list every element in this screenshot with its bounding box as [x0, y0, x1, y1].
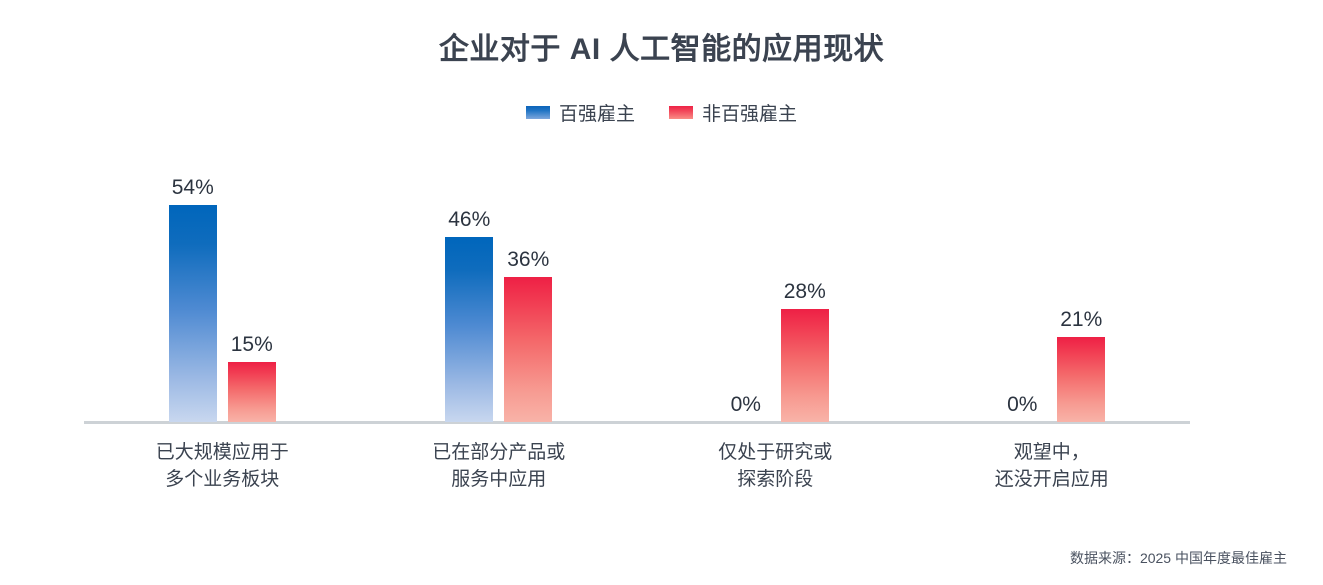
bar-group-0: 54% 15% [84, 150, 361, 422]
bar-groups: 54% 15% 46% 36% [84, 150, 1190, 422]
source-note: 数据来源：2025 中国年度最佳雇主 [1070, 548, 1287, 568]
bar-slot-red-0[interactable]: 15% [228, 150, 276, 422]
bar-red-1[interactable] [504, 277, 552, 422]
bar-pair-1: 46% 36% [361, 150, 638, 422]
bar-slot-blue-0[interactable]: 54% [169, 150, 217, 422]
bar-red-0[interactable] [228, 362, 276, 422]
bar-slot-blue-1[interactable]: 46% [445, 150, 493, 422]
x-axis-label-0: 已大规模应用于 多个业务板块 [84, 440, 361, 494]
bar-pair-3: 0% 21% [914, 150, 1191, 422]
bar-value-blue-0: 54% [172, 177, 214, 198]
x-axis-label-2-line2: 探索阶段 [637, 467, 914, 494]
bar-red-2[interactable] [781, 309, 829, 422]
x-axis-label-2-line1: 仅处于研究或 [637, 440, 914, 467]
bar-red-3[interactable] [1057, 337, 1105, 422]
bar-pair-2: 0% 28% [637, 150, 914, 422]
bar-slot-blue-2[interactable]: 0% [722, 150, 770, 422]
x-axis-label-1-line1: 已在部分产品或 [361, 440, 638, 467]
bar-slot-red-2[interactable]: 28% [781, 150, 829, 422]
bar-value-blue-1: 46% [448, 209, 490, 230]
x-axis-label-1-line2: 服务中应用 [361, 467, 638, 494]
plot-area: 54% 15% 46% 36% [0, 0, 1323, 585]
bar-group-3: 0% 21% [914, 150, 1191, 422]
bar-group-2: 0% 28% [637, 150, 914, 422]
bar-value-red-0: 15% [231, 334, 273, 355]
bar-value-red-1: 36% [507, 249, 549, 270]
bar-value-red-2: 28% [784, 281, 826, 302]
x-axis-labels: 已大规模应用于 多个业务板块 已在部分产品或 服务中应用 仅处于研究或 探索阶段… [84, 440, 1190, 494]
x-axis-label-2: 仅处于研究或 探索阶段 [637, 440, 914, 494]
bar-slot-blue-3[interactable]: 0% [998, 150, 1046, 422]
bar-blue-0[interactable] [169, 205, 217, 422]
x-axis-label-3: 观望中， 还没开启应用 [914, 440, 1191, 494]
bar-slot-red-3[interactable]: 21% [1057, 150, 1105, 422]
x-axis-label-0-line1: 已大规模应用于 [84, 440, 361, 467]
bar-slot-red-1[interactable]: 36% [504, 150, 552, 422]
bar-value-blue-2: 0% [731, 394, 761, 415]
x-axis-label-1: 已在部分产品或 服务中应用 [361, 440, 638, 494]
bar-value-blue-3: 0% [1007, 394, 1037, 415]
bar-value-red-3: 21% [1060, 309, 1102, 330]
bar-blue-1[interactable] [445, 237, 493, 422]
bar-group-1: 46% 36% [361, 150, 638, 422]
bar-pair-0: 54% 15% [84, 150, 361, 422]
x-axis-label-3-line1: 观望中， [914, 440, 1191, 467]
x-axis-label-3-line2: 还没开启应用 [914, 467, 1191, 494]
x-axis-label-0-line2: 多个业务板块 [84, 467, 361, 494]
